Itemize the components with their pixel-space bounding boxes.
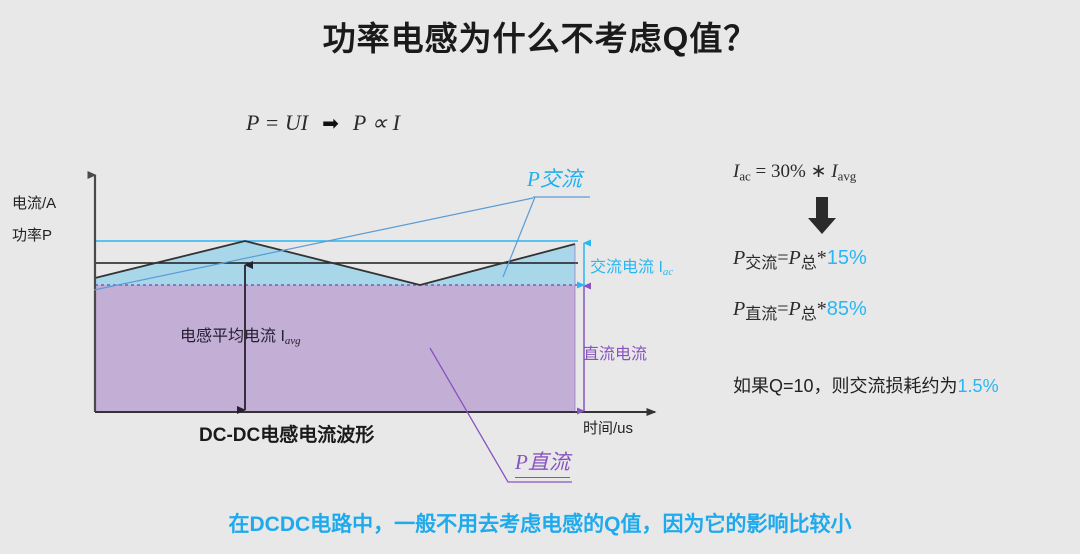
slide-canvas: 功率电感为什么不考虑Q值？ P = UI➡P ∝ I — [0, 0, 1080, 554]
eq-pdc-rhs: P — [789, 298, 801, 320]
inductor-current-waveform — [95, 241, 575, 285]
chart-caption: DC-DC电感电流波形 — [199, 420, 374, 447]
eq-iac-rhs-sub: avg — [838, 169, 857, 184]
ac-current-area-fill3 — [420, 244, 575, 285]
down-arrow-icon — [808, 197, 836, 234]
ac-current-area-fill2 — [95, 241, 420, 285]
eq-pdc-lhs: P — [733, 298, 745, 320]
top-formula: P = UI➡P ∝ I — [246, 110, 400, 136]
formula-right: P ∝ I — [353, 110, 400, 135]
eq-pac-lhs-sub: 交流 — [745, 255, 777, 272]
eq-pdc-lhs-sub: 直流 — [745, 306, 777, 323]
eq-pdc-equals: = — [777, 298, 788, 320]
label-dc-current: 直流电流 — [583, 340, 647, 364]
eq-pac-rhs: P — [789, 247, 801, 269]
label-ac-current-subscript: ac — [663, 266, 673, 278]
dc-current-area — [95, 285, 575, 412]
equation-ac-current: Iac = 30% ∗ Iavg — [733, 160, 856, 185]
eq-pdc-rhs-sub: 总 — [801, 306, 817, 323]
page-title: 功率电感为什么不考虑Q值？ — [0, 12, 1080, 60]
eq-pdc-mult: * — [817, 298, 827, 320]
eq-iac-lhs-sub: ac — [739, 169, 750, 184]
callout-ac-power-text: P交流 — [527, 167, 582, 191]
label-avg-current-subscript: avg — [285, 335, 301, 347]
label-avg-current: 电感平均电流 Iavg — [180, 322, 301, 347]
q-factor-note-value: 1.5% — [958, 376, 999, 396]
callout-dc-power: P直流 — [515, 446, 570, 478]
q-factor-note-text: 如果Q=10，则交流损耗约为 — [733, 376, 958, 396]
y-axis-label-current: 电流/A — [12, 192, 56, 213]
equation-dc-power: P直流=P总*85% — [733, 298, 867, 324]
eq-pac-mult: * — [817, 247, 827, 269]
label-ac-current: 交流电流 Iac — [590, 253, 673, 278]
eq-pac-equals: = — [777, 247, 788, 269]
ac-power-leader-line-2 — [503, 197, 535, 277]
y-axis-label-power: 功率P — [12, 224, 52, 245]
equation-ac-power: P交流=P总*15% — [733, 247, 867, 273]
eq-pac-rhs-sub: 总 — [801, 255, 817, 272]
conclusion-text: 在DCDC电路中，一般不用去考虑电感的Q值，因为它的影响比较小 — [0, 508, 1080, 538]
callout-dc-power-text: P直流 — [515, 450, 570, 474]
eq-pac-lhs: P — [733, 247, 745, 269]
x-axis-label-time: 时间/us — [583, 417, 633, 438]
right-arrow-icon: ➡ — [308, 111, 353, 136]
callout-ac-power: P交流 — [527, 163, 582, 193]
q-factor-note: 如果Q=10，则交流损耗约为1.5% — [733, 372, 999, 398]
eq-iac-operator: = 30% ∗ — [756, 161, 827, 182]
label-avg-current-text: 电感平均电流 I — [180, 328, 285, 345]
ac-power-leader-line-1 — [94, 198, 533, 290]
eq-pdc-percent: 85% — [827, 298, 867, 320]
label-ac-current-text: 交流电流 I — [590, 259, 663, 276]
formula-left: P = UI — [246, 110, 308, 135]
eq-pac-percent: 15% — [827, 247, 867, 269]
ac-current-area — [95, 241, 575, 285]
